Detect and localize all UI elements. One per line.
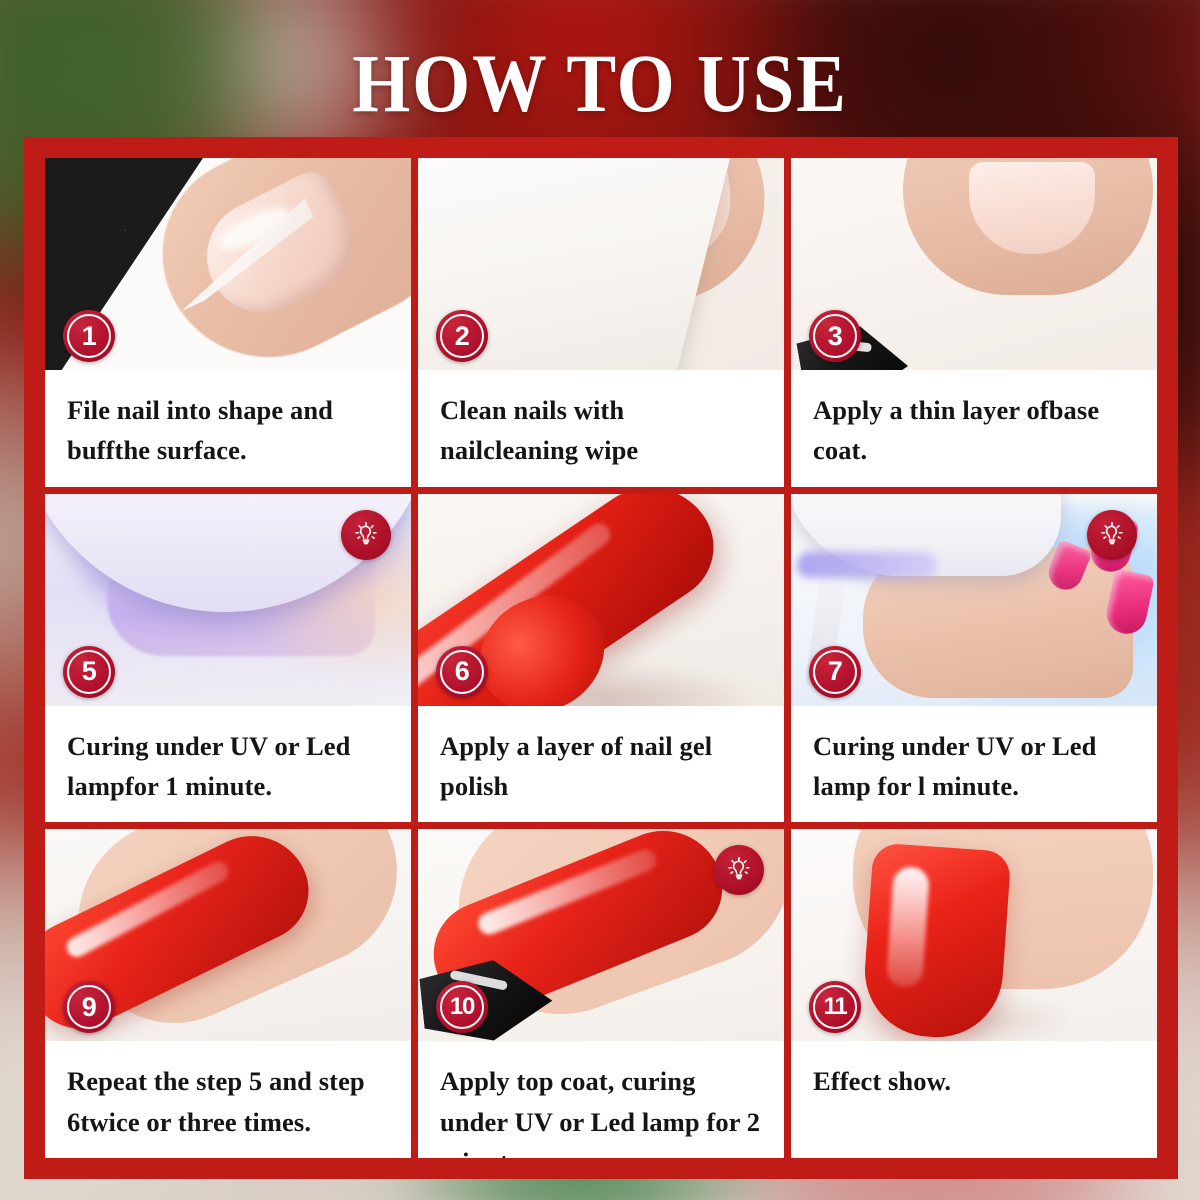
step-number-label: 6 [455, 658, 470, 685]
step-number-label: 3 [828, 323, 843, 350]
step-photo-11: 11 [791, 829, 1157, 1041]
step-card-9: 9Repeat the step 5 and step 6twice or th… [45, 829, 411, 1158]
step-number-badge: 11 [809, 981, 861, 1033]
step-caption: Curing under UV or Led lampfor 1 minute. [45, 706, 411, 823]
step-number-label: 9 [82, 994, 97, 1021]
step-photo-10: 10 [418, 829, 784, 1041]
step-caption: Curing under UV or Led lamp for l minute… [791, 706, 1157, 823]
step-card-6: 6Apply a layer of nail gel polish [418, 494, 784, 823]
step-photo-3: 3 [791, 158, 1157, 370]
step-caption: Repeat the step 5 and step 6twice or thr… [45, 1041, 411, 1158]
step-photo-5: 5 [45, 494, 411, 706]
step-photo-6: 6 [418, 494, 784, 706]
step-number-badge: 10 [436, 981, 488, 1033]
step-photo-1: 1 [45, 158, 411, 370]
step-caption: Apply a thin layer ofbase coat. [791, 370, 1157, 487]
step-number-badge: 1 [63, 310, 115, 362]
step-number-badge: 6 [436, 646, 488, 698]
step-number-label: 7 [828, 658, 843, 685]
step-number-badge: 2 [436, 310, 488, 362]
step-caption: Effect show. [791, 1041, 1157, 1158]
step-card-5: 5Curing under UV or Led lampfor 1 minute… [45, 494, 411, 823]
lightbulb-icon [1087, 510, 1137, 560]
step-number-label: 5 [82, 658, 97, 685]
step-caption: File nail into shape and buffthe surface… [45, 370, 411, 487]
step-card-11: 11Effect show. [791, 829, 1157, 1158]
steps-frame: 1File nail into shape and buffthe surfac… [24, 137, 1178, 1179]
step-card-2: 2Clean nails with nailcleaning wipe [418, 158, 784, 487]
step-number-label: 2 [455, 323, 470, 350]
page-title: HOW TO USE [60, 42, 1140, 125]
step-photo-9: 9 [45, 829, 411, 1041]
step-number-badge: 9 [63, 981, 115, 1033]
step-card-3: 3Apply a thin layer ofbase coat. [791, 158, 1157, 487]
step-number-badge: 5 [63, 646, 115, 698]
lightbulb-icon [714, 845, 764, 895]
step-caption: Apply top coat, curing under UV or Led l… [418, 1041, 784, 1158]
step-caption: Apply a layer of nail gel polish [418, 706, 784, 823]
step-number-label: 1 [82, 323, 97, 350]
step-number-badge: 3 [809, 310, 861, 362]
step-card-10: 10Apply top coat, curing under UV or Led… [418, 829, 784, 1158]
step-photo-7: 7 [791, 494, 1157, 706]
step-number-badge: 7 [809, 646, 861, 698]
step-card-7: 7Curing under UV or Led lamp for l minut… [791, 494, 1157, 823]
step-card-1: 1File nail into shape and buffthe surfac… [45, 158, 411, 487]
step-photo-2: 2 [418, 158, 784, 370]
step-caption: Clean nails with nailcleaning wipe [418, 370, 784, 487]
step-number-label: 11 [824, 995, 847, 1019]
steps-grid: 1File nail into shape and buffthe surfac… [45, 158, 1157, 1158]
lightbulb-icon [341, 510, 391, 560]
step-number-label: 10 [450, 995, 474, 1019]
